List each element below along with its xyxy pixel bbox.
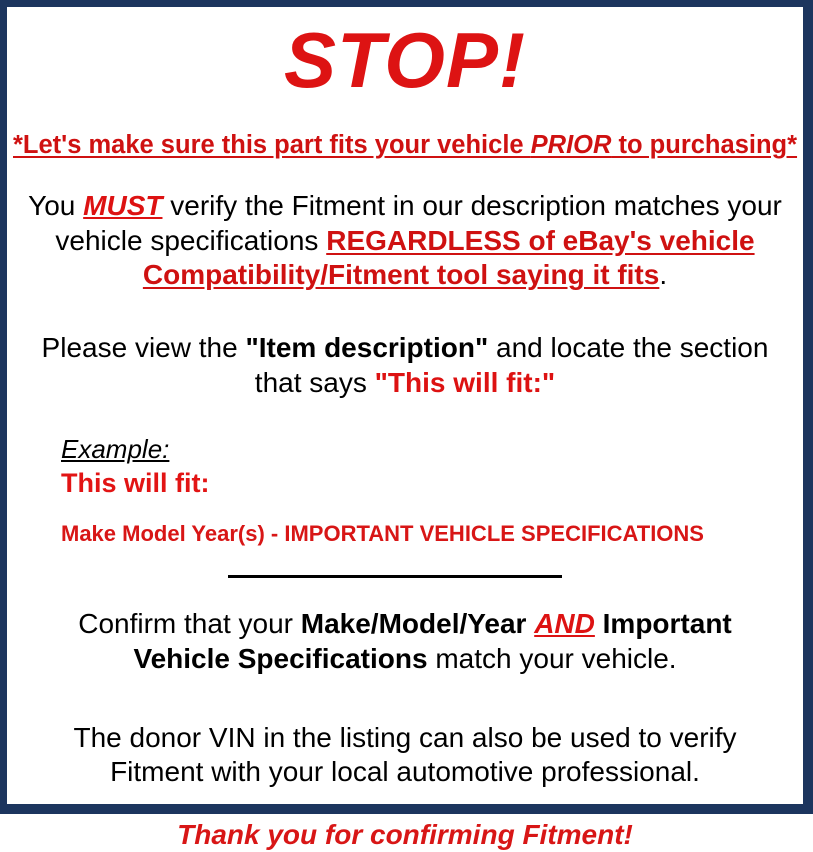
- thanks-line: Thank you for confirming Fitment!: [13, 818, 797, 852]
- verify-banner-emphasis: PRIOR: [531, 131, 612, 159]
- must-emphasis: MUST: [83, 190, 162, 221]
- example-label: Example:: [61, 435, 797, 465]
- please-part1: Please view the: [42, 332, 246, 363]
- and-emphasis: AND: [534, 608, 595, 639]
- confirm-part1: Confirm that your: [78, 608, 301, 639]
- example-spec-line: Make Model Year(s) - IMPORTANT VEHICLE S…: [61, 521, 797, 547]
- this-will-fit-emphasis: "This will fit:": [375, 367, 556, 398]
- paragraph-donor-vin: The donor VIN in the listing can also be…: [13, 721, 797, 790]
- example-fit-heading: This will fit:: [61, 467, 797, 499]
- paragraph-must: You MUST verify the Fitment in our descr…: [13, 189, 797, 293]
- fitment-notice-card: STOP! *Let's make sure this part fits yo…: [0, 0, 813, 814]
- example-block: Example: This will fit: Make Model Year(…: [13, 435, 797, 548]
- divider-container: [13, 569, 797, 583]
- verify-banner: *Let's make sure this part fits your veh…: [13, 131, 797, 159]
- paragraph-please-view: Please view the "Item description" and l…: [13, 331, 797, 400]
- confirm-part4: match your vehicle.: [428, 643, 677, 674]
- item-description-emphasis: "Item description": [245, 332, 488, 363]
- must-part1: You: [28, 190, 83, 221]
- verify-banner-suffix: to purchasing*: [611, 131, 797, 159]
- paragraph-confirm: Confirm that your Make/Model/Year AND Im…: [13, 607, 797, 676]
- make-model-year-emphasis: Make/Model/Year: [301, 608, 527, 639]
- verify-banner-prefix: *Let's make sure this part fits your veh…: [13, 131, 531, 159]
- must-part3: .: [659, 259, 667, 290]
- horizontal-divider: [228, 575, 562, 578]
- stop-title: STOP!: [13, 21, 797, 99]
- confirm-part3: [595, 608, 603, 639]
- notice-content: STOP! *Let's make sure this part fits yo…: [7, 21, 803, 818]
